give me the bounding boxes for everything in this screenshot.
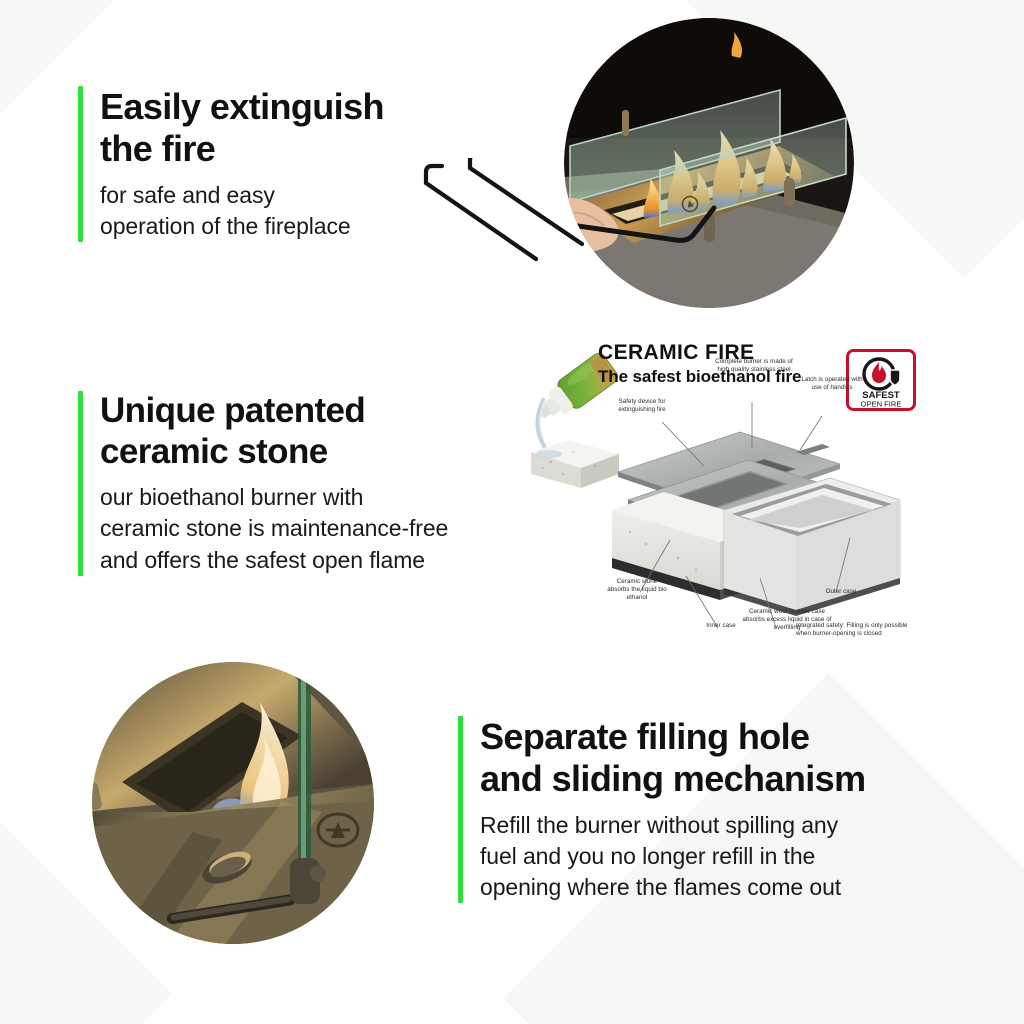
heading-ceramic: Unique patentedceramic stone <box>100 391 575 472</box>
body-ceramic: our bioethanol burner withceramic stone … <box>100 482 575 576</box>
callout-safety-device: Safety device for extinguishing fire <box>604 398 680 414</box>
callout-outer-case: Outer case <box>810 588 872 596</box>
section-separate-filling: Separate filling holeand sliding mechani… <box>458 716 980 903</box>
callout-integrated-safety: Integrated safety: Filling is only possi… <box>796 622 914 638</box>
accent-bar-ceramic <box>78 391 83 576</box>
section-ceramic-stone: Unique patentedceramic stone our bioetha… <box>78 391 575 576</box>
callout-complete-burner: Complete burner is made of high quality … <box>712 358 796 374</box>
heading-separate: Separate filling holeand sliding mechani… <box>480 716 980 800</box>
accent-bar-extinguish <box>78 86 83 242</box>
body-separate: Refill the burner without spilling anyfu… <box>480 810 980 904</box>
photo-burner-with-flames <box>564 18 854 308</box>
infographic-canvas: Easily extinguishthe fire for safe and e… <box>0 0 1024 1024</box>
callout-ceramic-stone: Ceramic stone absorbs the liquid bio eth… <box>606 578 668 602</box>
accent-bar-separate <box>458 716 463 903</box>
exploded-burner-diagram: Safety device for extinguishing fire Com… <box>600 392 940 652</box>
shield-icon <box>890 370 900 386</box>
photo-burner-closeup <box>92 662 374 944</box>
callout-latch: Latch is operated with use of handles <box>796 376 868 392</box>
heading-extinguish: Easily extinguishthe fire <box>100 86 500 170</box>
